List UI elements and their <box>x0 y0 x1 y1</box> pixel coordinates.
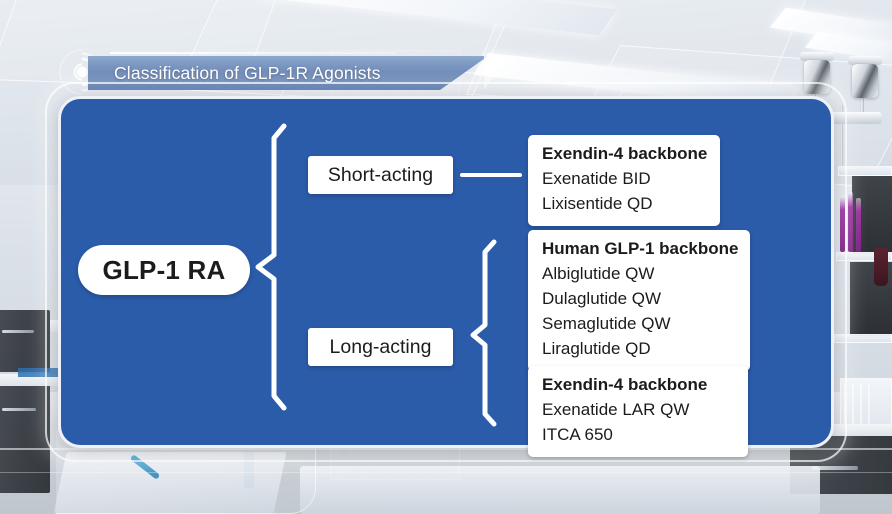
connector-short-acting <box>460 173 522 177</box>
leaf-heading: Exendin-4 backbone <box>542 373 734 398</box>
leaf-item: Lixisentide QD <box>542 192 706 217</box>
leaf-item: Liraglutide QD <box>542 337 736 362</box>
brace-long-acting-split <box>468 238 508 428</box>
leaf-heading: Human GLP-1 backbone <box>542 237 736 262</box>
leaf-item: Exenatide LAR QW <box>542 398 734 423</box>
slide-root: Classification of GLP-1R Agonists GLP-1 … <box>0 0 892 514</box>
leaf-item: Exenatide BID <box>542 167 706 192</box>
leaf-exendin4-long-acting[interactable]: Exendin-4 backbone Exenatide LAR QW ITCA… <box>528 366 748 457</box>
leaf-item: Dulaglutide QW <box>542 287 736 312</box>
node-long-acting-label: Long-acting <box>330 336 432 359</box>
classification-diagram: GLP-1 RA Short-acting Long-acting Exendi… <box>0 0 892 514</box>
leaf-item: Semaglutide QW <box>542 312 736 337</box>
node-glp1-ra[interactable]: GLP-1 RA <box>78 245 250 295</box>
brace-root-split <box>252 122 298 412</box>
node-short-acting[interactable]: Short-acting <box>308 156 453 194</box>
leaf-human-glp1-backbone[interactable]: Human GLP-1 backbone Albiglutide QW Dula… <box>528 230 750 371</box>
leaf-item: ITCA 650 <box>542 423 734 448</box>
leaf-heading: Exendin-4 backbone <box>542 142 706 167</box>
leaf-item: Albiglutide QW <box>542 262 736 287</box>
node-glp1-ra-label: GLP-1 RA <box>103 255 226 286</box>
node-long-acting[interactable]: Long-acting <box>308 328 453 366</box>
node-short-acting-label: Short-acting <box>328 164 433 187</box>
leaf-exendin4-short-acting[interactable]: Exendin-4 backbone Exenatide BID Lixisen… <box>528 135 720 226</box>
